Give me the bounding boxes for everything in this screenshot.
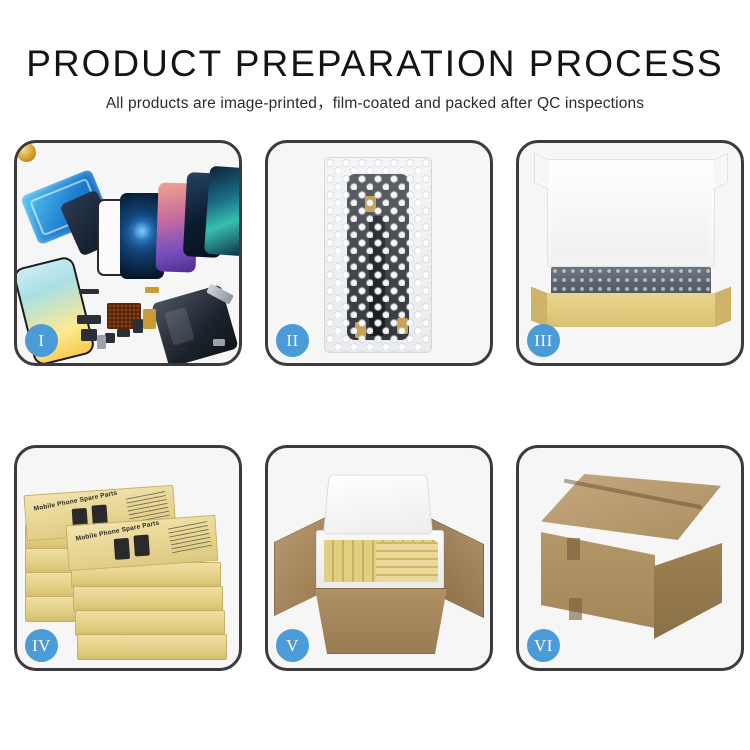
foam-sheet-icon: [553, 173, 709, 257]
component-chip-icon: [117, 329, 130, 337]
process-step-panel-1: I: [14, 140, 242, 366]
component-chip-icon: [105, 333, 115, 343]
carton-tape-icon: [569, 598, 582, 620]
carton-side-face-icon: [654, 543, 722, 639]
page-title: PRODUCT PREPARATION PROCESS: [0, 42, 750, 86]
component-chip-icon: [133, 319, 143, 333]
component-chip-icon: [81, 329, 97, 341]
box-label-specs-lines: [168, 520, 212, 553]
flex-cable-icon: [143, 309, 156, 329]
gold-connector-icon: [145, 287, 159, 293]
component-chip-icon: [77, 315, 101, 324]
stacked-box-item: [77, 634, 227, 660]
styrofoam-lid-icon: [323, 475, 433, 535]
process-step-panel-6: VI: [516, 445, 744, 671]
step-badge-1: I: [25, 324, 58, 357]
process-step-panel-4: Mobile Phone Spare Parts Mobile Phone Sp…: [14, 445, 242, 671]
process-step-grid: I II III: [14, 140, 736, 685]
sim-tray-icon: [97, 335, 106, 349]
process-step-panel-2: II: [265, 140, 493, 366]
carton-body-icon: [306, 588, 456, 654]
step-badge-5: V: [276, 629, 309, 662]
bubble-bag-icon: [324, 157, 432, 353]
stacked-box-item: [75, 610, 225, 636]
step-badge-2: II: [276, 324, 309, 357]
header: PRODUCT PREPARATION PROCESS All products…: [0, 0, 750, 114]
page-subtitle: All products are image-printed，film-coat…: [0, 94, 750, 114]
step-badge-3: III: [527, 324, 560, 357]
process-step-panel-5: V: [265, 445, 493, 671]
product-preparation-infographic: PRODUCT PREPARATION PROCESS All products…: [0, 0, 750, 750]
stacked-box-item: [73, 586, 223, 612]
camera-lens-icon: [17, 143, 36, 162]
screw-icon: [213, 339, 225, 346]
box-label-phone-image: [114, 538, 130, 560]
carton-tape-icon: [567, 538, 580, 560]
teal-phone-icon: [204, 166, 242, 257]
packed-boxes-icon: [376, 542, 438, 582]
kraft-box-base-icon: [545, 293, 717, 327]
process-step-panel-3: III: [516, 140, 744, 366]
step-badge-4: IV: [25, 629, 58, 662]
box-label-phone-image: [133, 535, 149, 557]
step-badge-6: VI: [527, 629, 560, 662]
carton-front-face-icon: [541, 532, 655, 628]
bubble-texture-icon: [325, 158, 431, 352]
component-chip-icon: [79, 289, 99, 294]
